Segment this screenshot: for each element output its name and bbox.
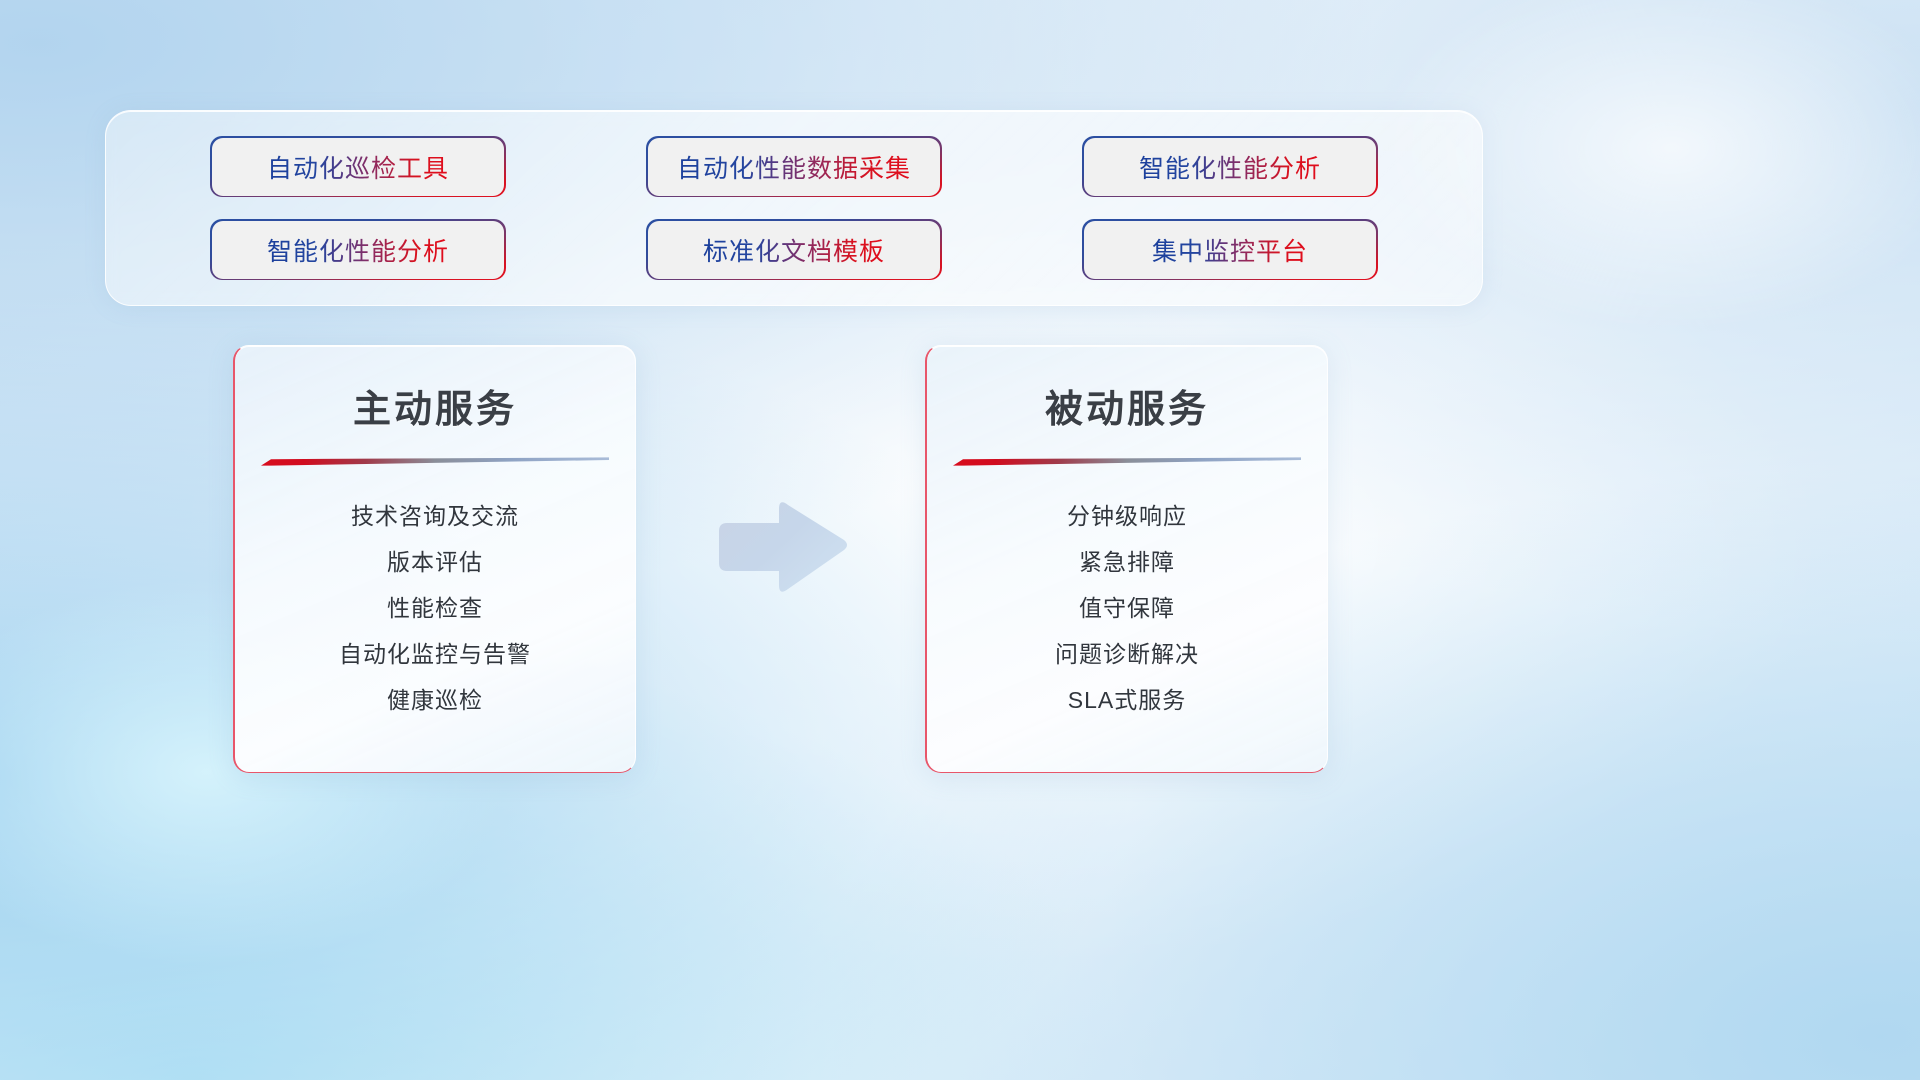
card-title: 被动服务 bbox=[927, 378, 1327, 433]
capability-tag-label: 智能化性能分析 bbox=[267, 232, 449, 268]
slide-canvas: 自动化巡检工具 自动化性能数据采集 智能化性能分析 智能化性能分析 标准化文档模… bbox=[0, 0, 1920, 1080]
service-list-item: 性能检查 bbox=[235, 586, 635, 632]
title-divider bbox=[261, 457, 609, 466]
capability-tag[interactable]: 自动化巡检工具 bbox=[212, 138, 504, 196]
capability-tag[interactable]: 标准化文档模板 bbox=[648, 221, 940, 279]
capability-tag[interactable]: 智能化性能分析 bbox=[1084, 138, 1376, 196]
capability-tags-panel: 自动化巡检工具 自动化性能数据采集 智能化性能分析 智能化性能分析 标准化文档模… bbox=[105, 110, 1483, 306]
service-item-list: 技术咨询及交流 版本评估 性能检查 自动化监控与告警 健康巡检 bbox=[235, 494, 635, 724]
service-list-item: 分钟级响应 bbox=[927, 494, 1327, 540]
capability-tag[interactable]: 集中监控平台 bbox=[1084, 221, 1376, 279]
capability-tag[interactable]: 智能化性能分析 bbox=[212, 221, 504, 279]
service-list-item: 紧急排障 bbox=[927, 540, 1327, 586]
service-list-item: 健康巡检 bbox=[235, 678, 635, 724]
card-title: 主动服务 bbox=[235, 378, 635, 433]
service-list-item: 版本评估 bbox=[235, 540, 635, 586]
capability-tag[interactable]: 自动化性能数据采集 bbox=[648, 138, 940, 196]
service-list-item: 技术咨询及交流 bbox=[235, 494, 635, 540]
service-list-item: 自动化监控与告警 bbox=[235, 632, 635, 678]
service-item-list: 分钟级响应 紧急排障 值守保障 问题诊断解决 SLA式服务 bbox=[927, 494, 1327, 724]
capability-tag-label: 智能化性能分析 bbox=[1139, 149, 1321, 185]
capability-tag-label: 标准化文档模板 bbox=[703, 232, 885, 268]
service-card-proactive: 主动服务 技术咨询及交流 版本评估 性能检查 bbox=[233, 345, 636, 773]
service-card-reactive: 被动服务 分钟级响应 紧急排障 值守保障 bbox=[925, 345, 1328, 773]
capability-tag-label: 集中监控平台 bbox=[1152, 232, 1308, 268]
title-divider bbox=[953, 457, 1301, 466]
capability-tag-label: 自动化性能数据采集 bbox=[677, 149, 911, 185]
flow-arrow-right-icon bbox=[713, 493, 853, 601]
capability-tag-label: 自动化巡检工具 bbox=[267, 149, 449, 185]
service-list-item: 值守保障 bbox=[927, 586, 1327, 632]
service-list-item: 问题诊断解决 bbox=[927, 632, 1327, 678]
service-list-item: SLA式服务 bbox=[927, 678, 1327, 724]
